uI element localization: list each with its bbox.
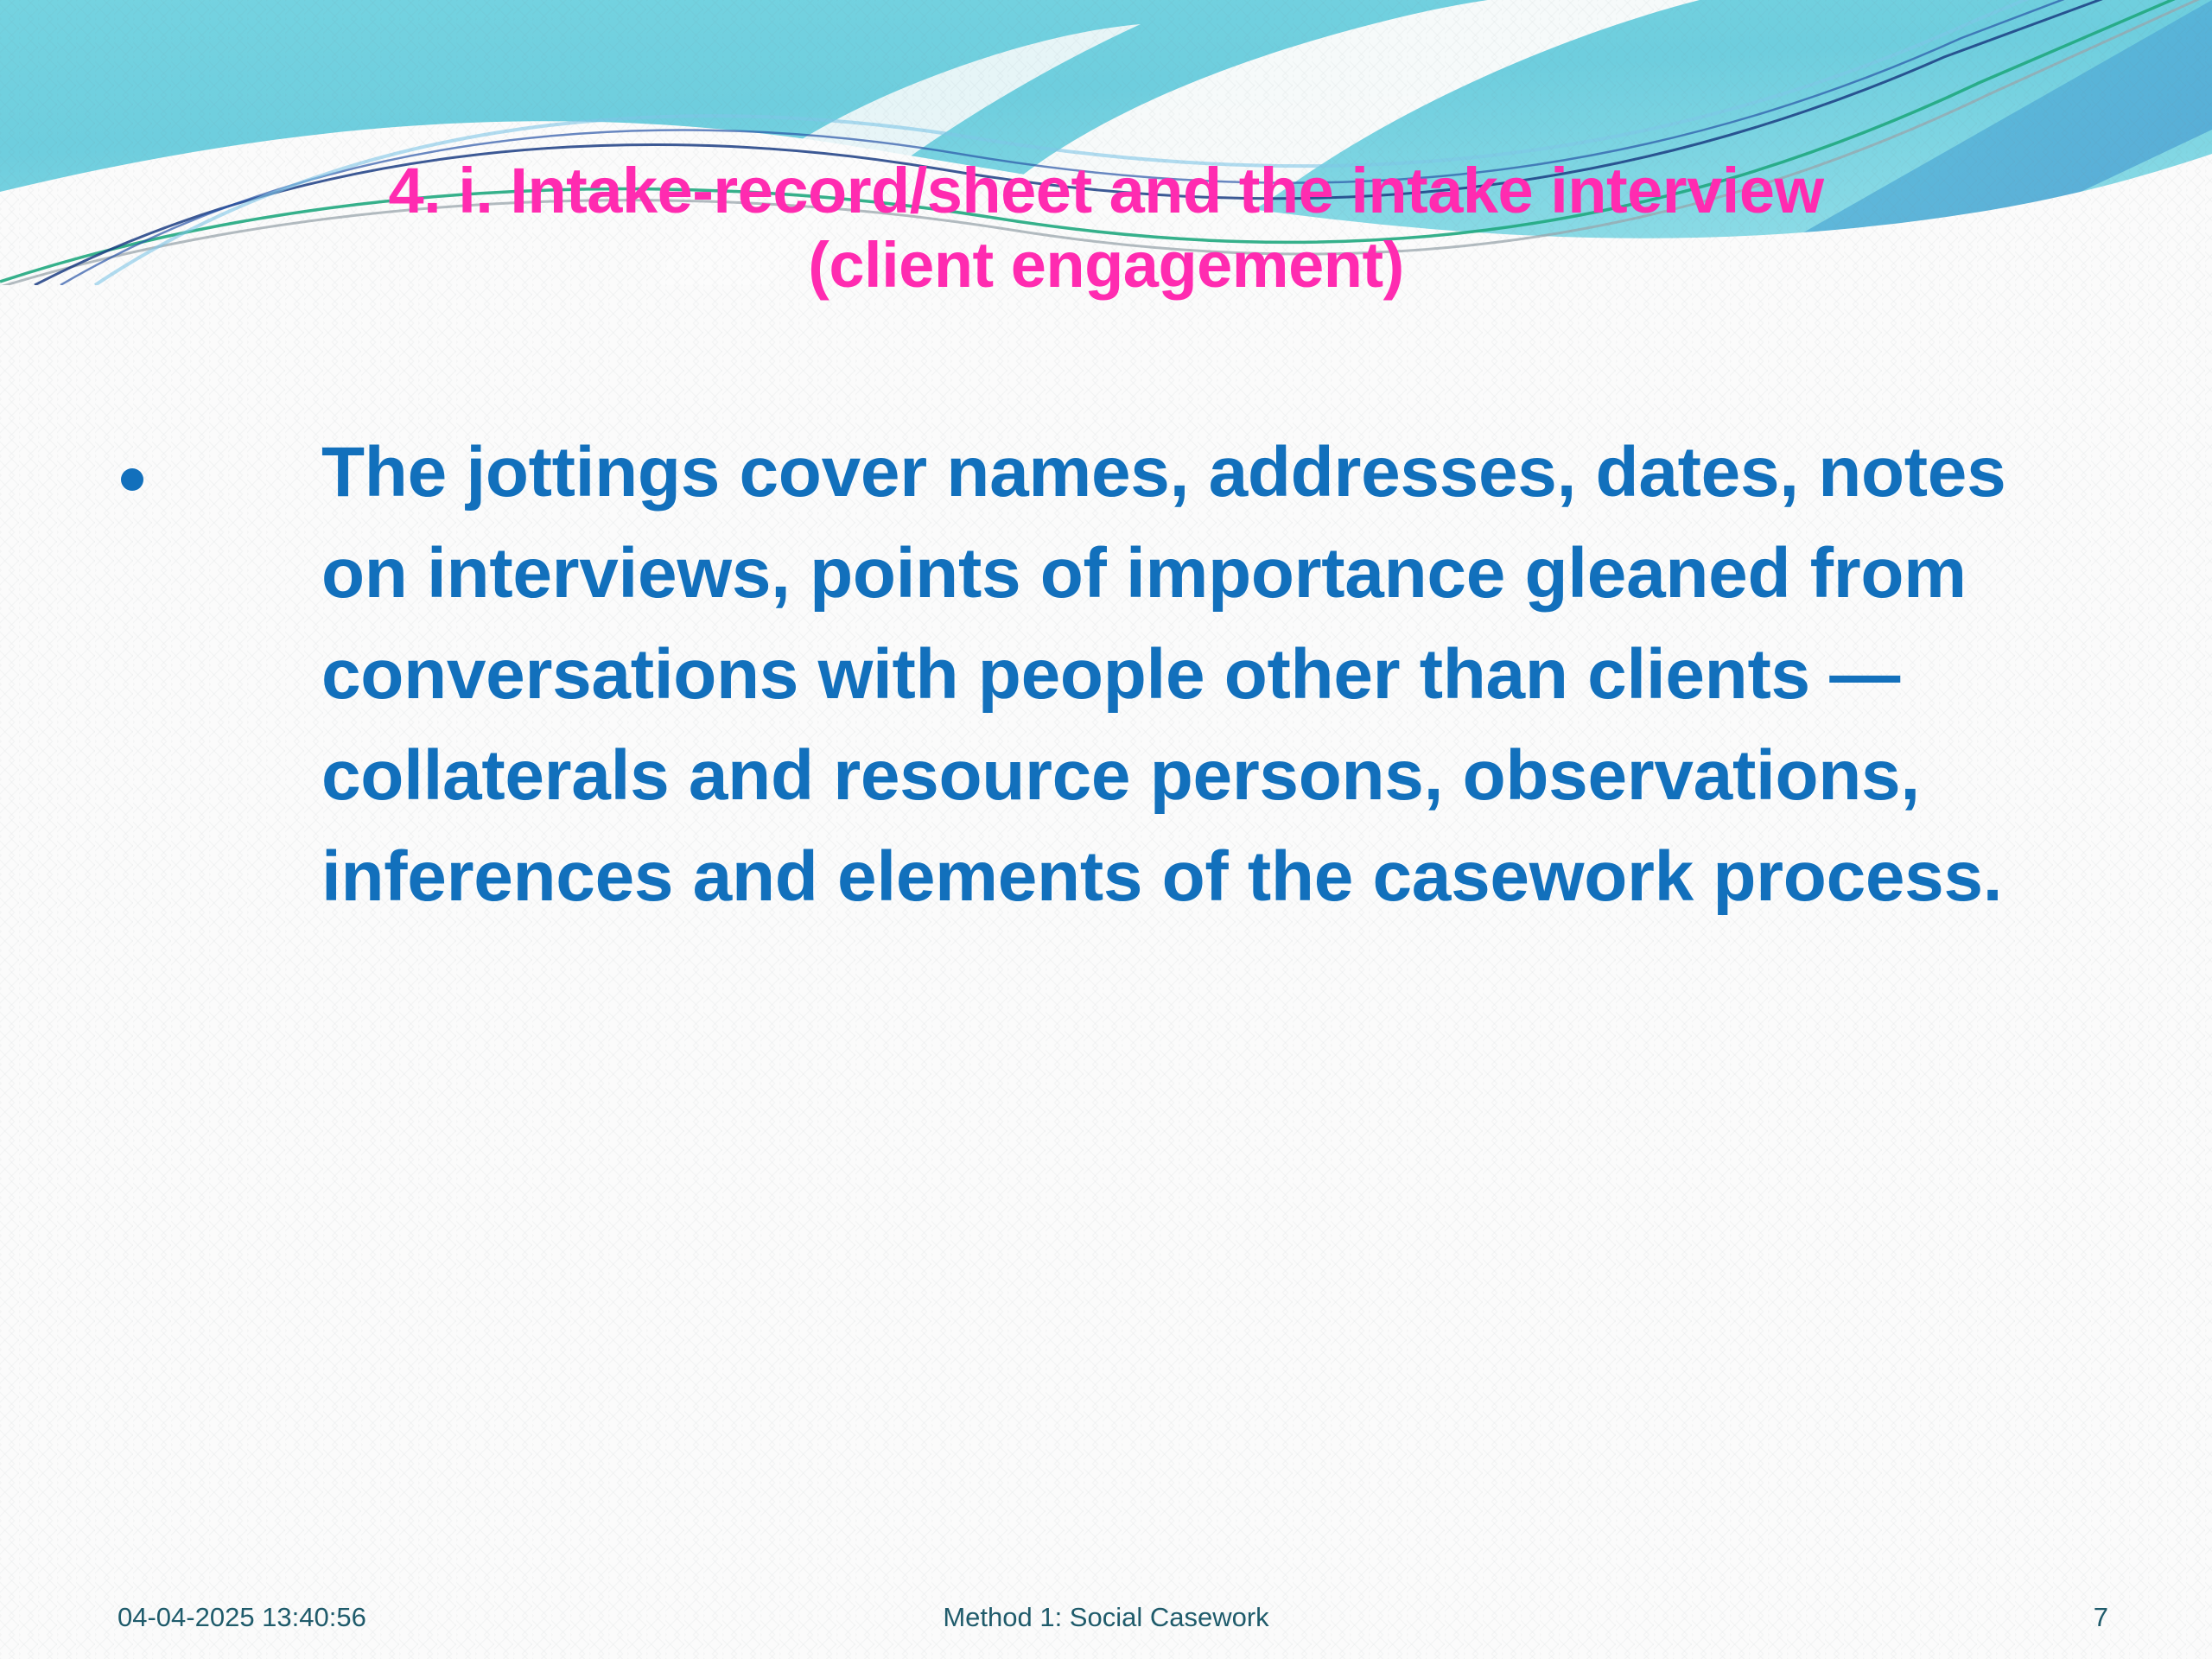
footer-page-number: 7 [2094, 1602, 2108, 1633]
slide-title-line-1: 4. i. Intake-record/sheet and the intake… [104, 154, 2108, 228]
bullet-text: The jottings cover names, addresses, dat… [321, 422, 2048, 927]
slide-title: 4. i. Intake-record/sheet and the intake… [104, 154, 2108, 302]
presentation-slide: 4. i. Intake-record/sheet and the intake… [0, 0, 2212, 1659]
slide-title-line-2: (client engagement) [104, 228, 2108, 302]
list-item: The jottings cover names, addresses, dat… [0, 422, 2212, 927]
footer-title: Method 1: Social Casework [0, 1602, 2212, 1633]
slide-body: The jottings cover names, addresses, dat… [0, 422, 2212, 927]
bullet-dot-icon [121, 468, 143, 491]
slide-footer: 04-04-2025 13:40:56 Method 1: Social Cas… [0, 1576, 2212, 1659]
